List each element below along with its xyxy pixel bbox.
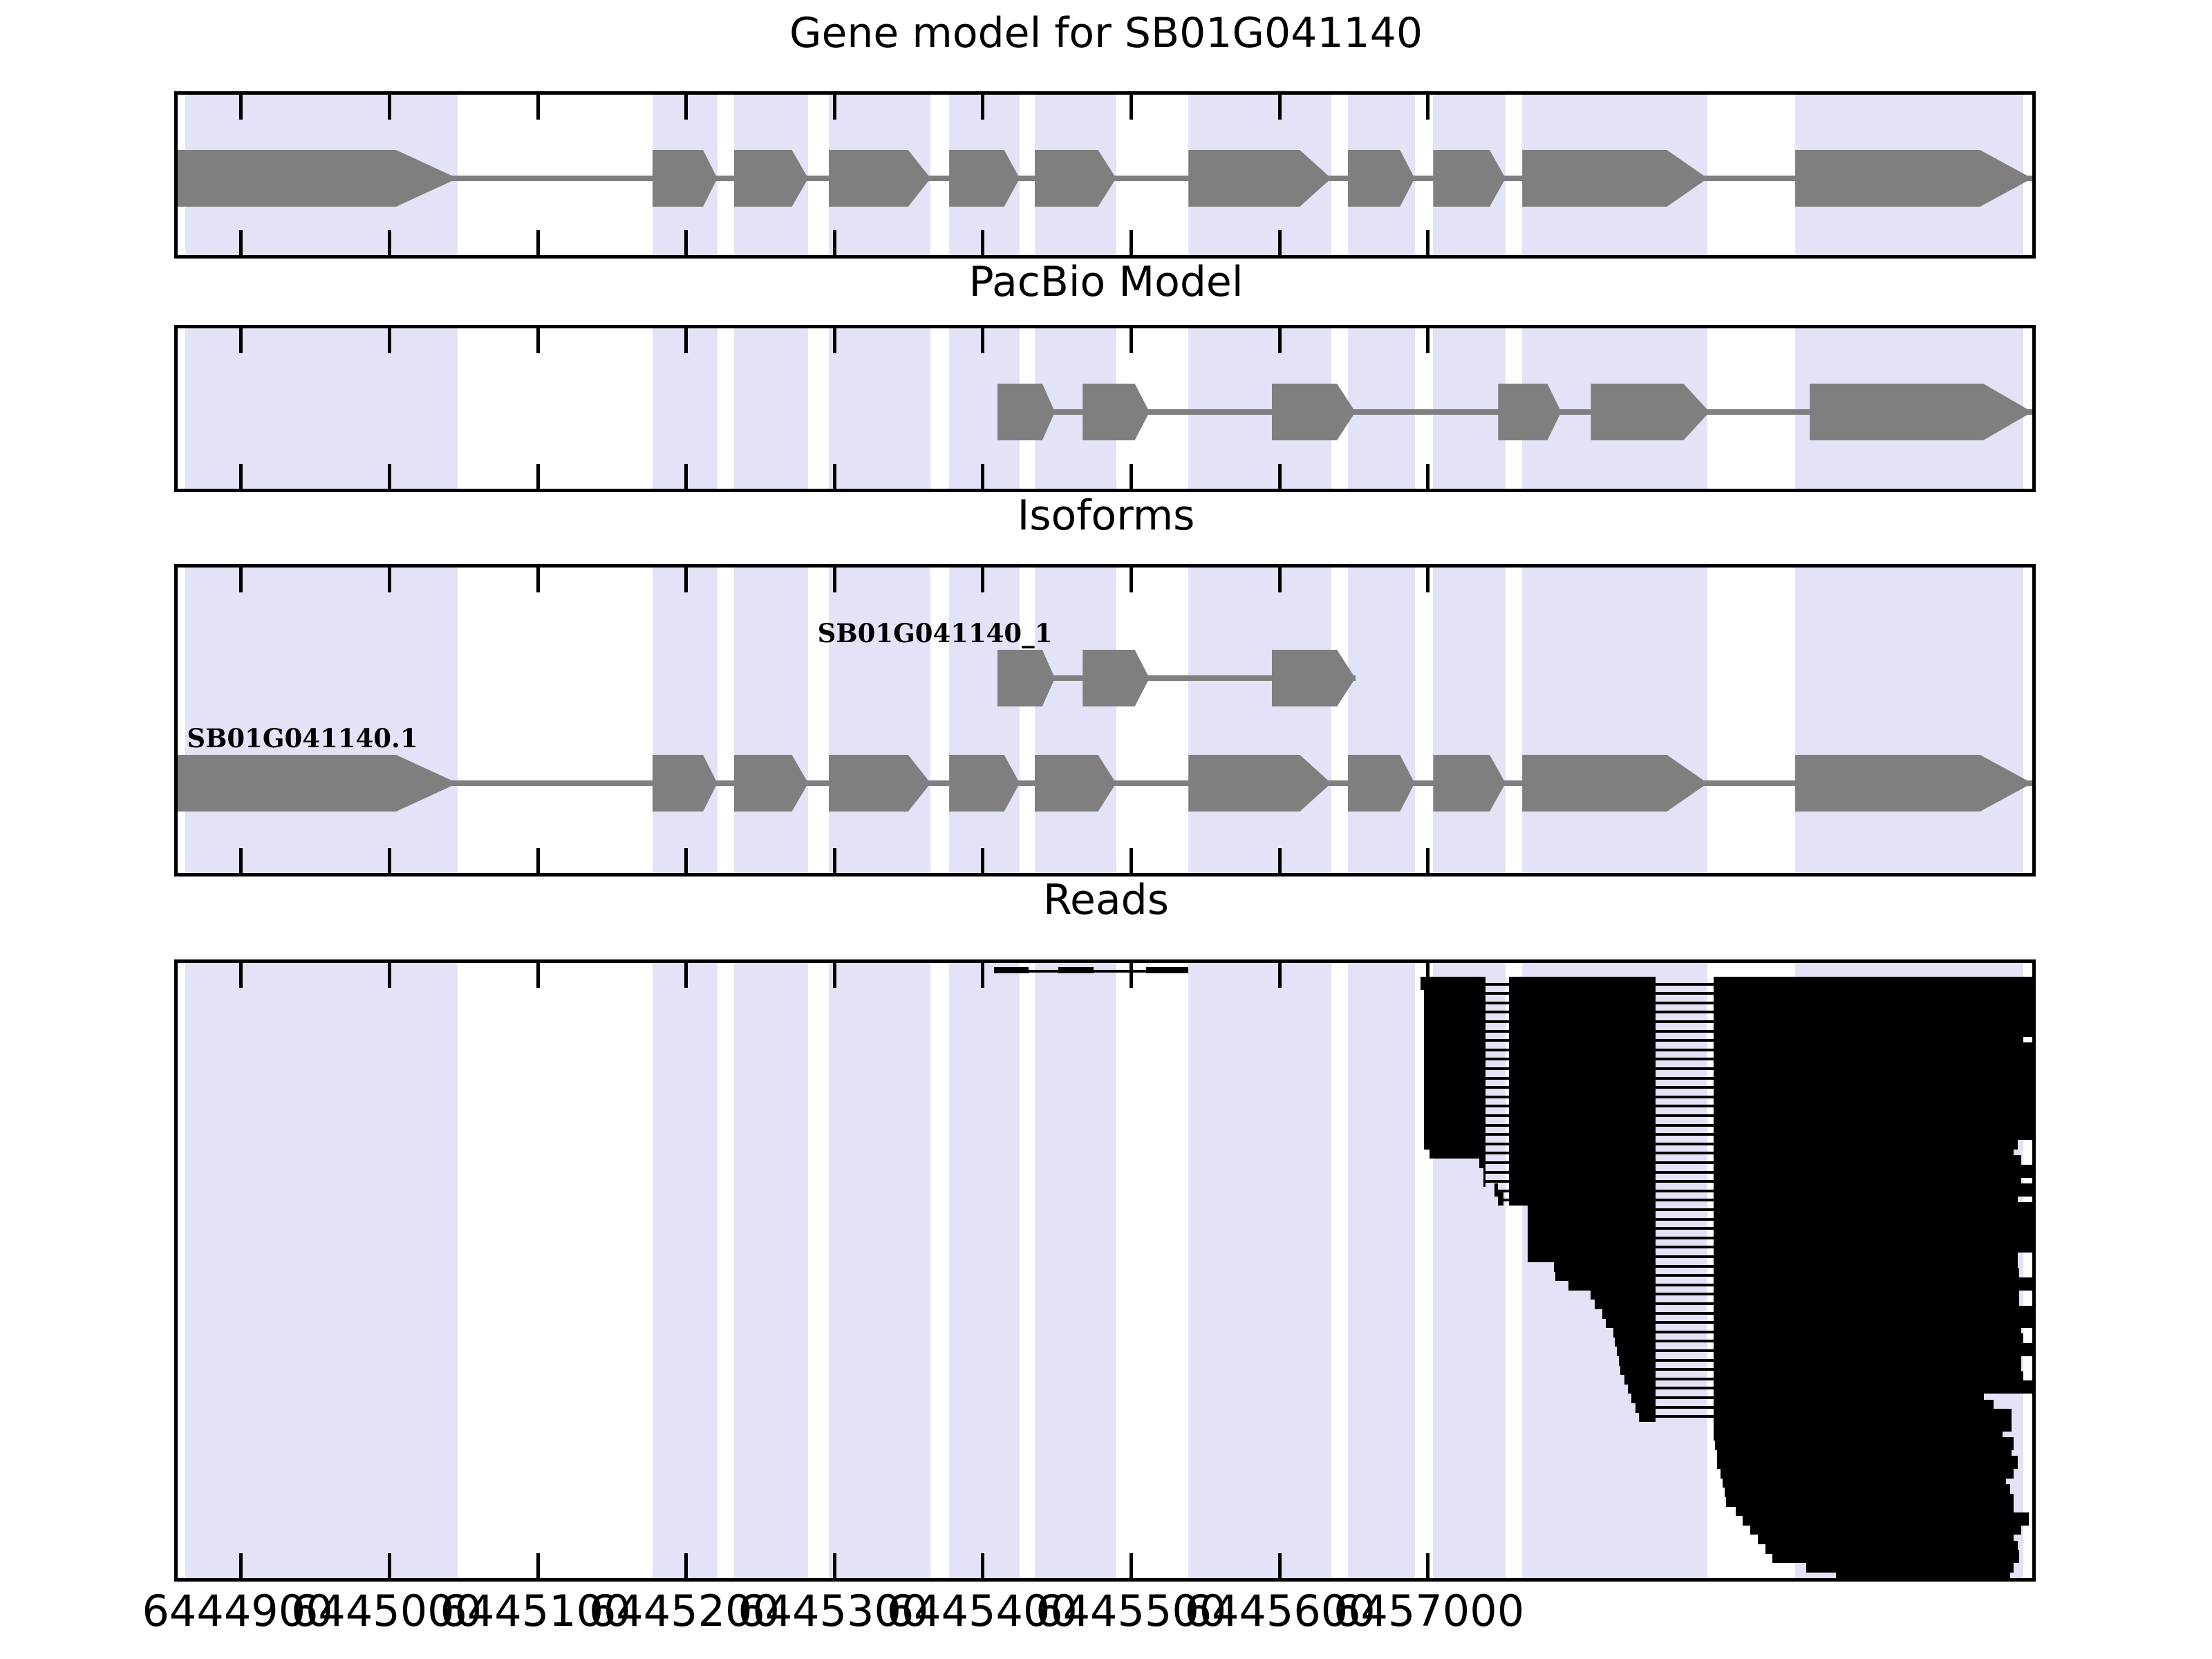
x-axis-tick-bot — [1130, 1553, 1133, 1578]
exon-block[interactable] — [1272, 650, 1356, 706]
reads-panel-title: Reads — [0, 879, 2212, 921]
exon-shading-band — [1035, 963, 1116, 1578]
x-axis-tick-bot — [981, 464, 984, 489]
x-axis-tick-bot — [833, 848, 836, 873]
x-axis-tick-bot — [239, 464, 243, 489]
x-axis-tick-bot — [388, 230, 391, 255]
exon-shading-band — [734, 328, 808, 489]
x-axis-tick-bot — [388, 1553, 391, 1578]
x-axis-tick-bot — [388, 848, 391, 873]
x-axis-tick-top — [1278, 328, 1282, 353]
x-axis-tick-bot — [1426, 464, 1430, 489]
exon-shading-band — [185, 963, 458, 1578]
read-block[interactable] — [1058, 967, 1094, 973]
read-block[interactable] — [1498, 1192, 1503, 1206]
x-axis-tick-top — [388, 328, 391, 353]
exon-shading-band — [949, 963, 1020, 1578]
exon-shading-band — [1188, 568, 1331, 873]
x-axis-tick-bot — [536, 848, 540, 873]
exon-shading-band — [829, 328, 931, 489]
feature-label: SB01G041140.1 — [187, 726, 418, 751]
x-axis-tick-bot — [833, 1553, 836, 1578]
x-axis-tick-bot — [536, 230, 540, 255]
x-axis-tick-bot — [1130, 464, 1133, 489]
x-axis-tick-top — [833, 963, 836, 988]
exon-shading-band — [1795, 568, 2023, 873]
x-axis-tick-top — [981, 95, 984, 120]
x-axis-tick-top — [239, 328, 243, 353]
x-axis-tick-bot — [1278, 848, 1282, 873]
x-axis-tick-top — [833, 328, 836, 353]
exon-shading-band — [1035, 568, 1116, 873]
x-axis-tick-bot — [684, 1553, 688, 1578]
isoforms-plot-area: SB01G041140_1SB01G041140.1 — [178, 568, 2032, 873]
x-axis-tick-bot — [833, 230, 836, 255]
x-axis-tick-top — [981, 963, 984, 988]
exon-shading-band — [734, 963, 808, 1578]
x-axis-tick-bot — [1278, 464, 1282, 489]
x-axis-tick-top — [536, 963, 540, 988]
pacbio-model-axes[interactable] — [174, 325, 2036, 492]
gene-model-axes[interactable] — [174, 91, 2036, 259]
x-axis-tick-top — [981, 328, 984, 353]
x-axis-tick-bot — [536, 464, 540, 489]
x-axis-tick-top — [239, 963, 243, 988]
x-axis-tick-bot — [981, 230, 984, 255]
x-axis-tick-top — [981, 568, 984, 592]
x-axis-tick-top — [536, 328, 540, 353]
genome-browser-figure: Gene model for SB01G041140 PacBio Model … — [0, 0, 2212, 1659]
x-axis-tick-top — [1130, 95, 1133, 120]
x-axis-tick-top — [684, 568, 688, 592]
x-axis-tick-bot — [684, 848, 688, 873]
x-axis-tick-top — [239, 568, 243, 592]
x-axis-tick-bot — [833, 464, 836, 489]
exon-shading-band — [185, 568, 458, 873]
x-axis-tick-top — [1278, 963, 1282, 988]
x-axis-tick-top — [388, 568, 391, 592]
x-axis-tick-bot — [684, 230, 688, 255]
x-axis-tick-bot — [981, 848, 984, 873]
x-axis-tick-bot — [1426, 848, 1430, 873]
exon-shading-band — [1522, 568, 1707, 873]
x-axis-tick-bot — [239, 230, 243, 255]
x-axis-tick-top — [536, 568, 540, 592]
x-axis-tick-top — [1130, 568, 1133, 592]
read-block[interactable] — [1836, 1568, 2010, 1582]
exon-block[interactable] — [1082, 384, 1150, 440]
x-axis-tick-top — [1426, 568, 1430, 592]
x-tick-label: 6457000 — [1333, 1590, 1524, 1633]
exon-block[interactable] — [1082, 650, 1150, 706]
read-block[interactable] — [1430, 1145, 1485, 1159]
exon-shading-band — [1433, 328, 1506, 489]
x-axis-tick-top — [833, 568, 836, 592]
exon-block[interactable] — [1272, 384, 1356, 440]
x-axis-tick-top — [536, 95, 540, 120]
isoforms-axes[interactable]: SB01G041140_1SB01G041140.1 — [174, 564, 2036, 877]
exon-shading-band — [829, 568, 931, 873]
x-axis-tick-top — [388, 963, 391, 988]
exon-shading-band — [653, 963, 718, 1578]
x-axis-tick-bot — [1130, 230, 1133, 255]
exon-shading-band — [1348, 568, 1415, 873]
reads-axes[interactable] — [174, 959, 2036, 1582]
x-axis-tick-top — [1130, 963, 1133, 988]
x-axis-tick-bot — [388, 464, 391, 489]
read-block[interactable] — [1639, 1409, 1656, 1422]
read-block[interactable] — [994, 967, 1029, 973]
isoforms-panel-title: Isoforms — [0, 495, 2212, 536]
exon-shading-band — [1433, 568, 1506, 873]
x-axis-tick-top — [1278, 95, 1282, 120]
feature-label: SB01G041140_1 — [818, 621, 1053, 646]
x-axis-tick-bot — [1426, 1553, 1430, 1578]
x-axis-tick-top — [1426, 328, 1430, 353]
x-axis-tick-bot — [1278, 1553, 1282, 1578]
exon-shading-band — [829, 963, 931, 1578]
x-axis-tick-bot — [536, 1553, 540, 1578]
x-axis-tick-bot — [1426, 230, 1430, 255]
x-axis-tick-top — [239, 95, 243, 120]
pacbio-model-panel-title: PacBio Model — [0, 261, 2212, 303]
exon-shading-band — [653, 568, 718, 873]
x-axis-tick-top — [1426, 95, 1430, 120]
read-block[interactable] — [1146, 967, 1189, 973]
x-axis-tick-top — [833, 95, 836, 120]
reads-plot-area — [178, 963, 2032, 1578]
x-axis-tick-top — [1278, 568, 1282, 592]
exon-shading-band — [949, 568, 1020, 873]
x-axis-tick-bot — [981, 1553, 984, 1578]
exon-shading-band — [1348, 963, 1415, 1578]
pacbio-model-plot-area — [178, 328, 2032, 489]
x-axis-tick-top — [1130, 328, 1133, 353]
exon-shading-band — [734, 568, 808, 873]
x-axis-tick-bot — [684, 464, 688, 489]
x-axis-tick-bot — [239, 848, 243, 873]
exon-shading-band — [1188, 963, 1331, 1578]
x-axis-tick-top — [388, 95, 391, 120]
gene-model-plot-area — [178, 95, 2032, 255]
x-axis-tick-bot — [1130, 848, 1133, 873]
read-block[interactable] — [1483, 1174, 1485, 1187]
x-axis-tick-bot — [1278, 230, 1282, 255]
exon-shading-band — [185, 328, 458, 489]
x-axis-tick-top — [684, 95, 688, 120]
x-axis-tick-top — [684, 963, 688, 988]
gene-model-panel-title: Gene model for SB01G041140 — [0, 12, 2212, 54]
x-axis-tick-bot — [239, 1553, 243, 1578]
exon-shading-band — [1348, 328, 1415, 489]
x-axis-tick-top — [684, 328, 688, 353]
